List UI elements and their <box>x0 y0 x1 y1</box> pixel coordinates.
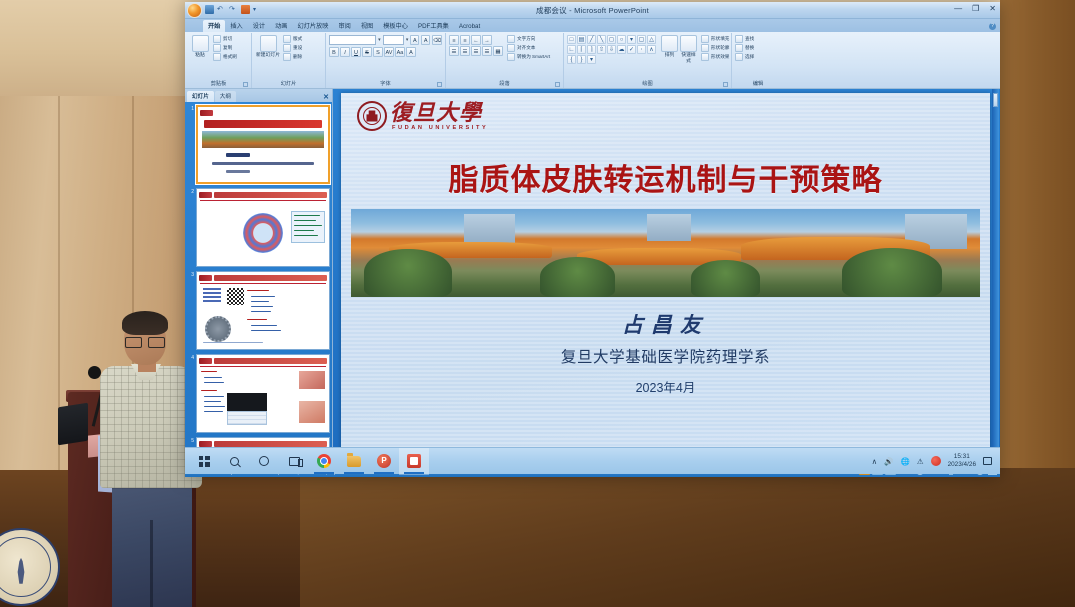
text-direction-icon <box>507 35 515 43</box>
convert-smartart-button[interactable]: 转换为 SmartArt <box>507 53 550 61</box>
speaker-glasses <box>125 337 165 346</box>
thumb-text-panel <box>291 211 325 243</box>
tab-pdf-tools[interactable]: PDF工具集 <box>413 20 454 32</box>
list-item[interactable]: 1 <box>187 105 330 184</box>
shape-arrow-icon[interactable]: ╲ <box>597 35 606 44</box>
network-icon[interactable]: 🌐 <box>900 457 909 466</box>
replace-button[interactable]: 替换 <box>735 44 754 52</box>
thumbnail-slide-4[interactable] <box>196 354 330 433</box>
font-color-button[interactable]: A <box>406 47 416 57</box>
ribbon-group-slides: 新建幻灯片 版式 重设 删除 <box>252 33 326 88</box>
thumb-title-bar <box>214 275 327 281</box>
thumb-text-line <box>204 377 222 378</box>
shape-brace2-icon[interactable]: } <box>577 55 586 64</box>
slide-speaker-name: 占昌友 <box>341 309 990 339</box>
thumb-text-line <box>204 401 221 402</box>
cortana-circle-icon <box>259 456 269 466</box>
reset-button[interactable]: 重设 <box>283 44 302 52</box>
group-label-slides: 幻灯片 <box>255 80 322 88</box>
ribbon-tabs: 开始 插入 设计 动画 幻灯片放映 审阅 视图 模板中心 PDF工具集 Acro… <box>185 19 1000 32</box>
thumb-dept-line <box>212 162 314 165</box>
thumb-heading-line <box>247 319 267 320</box>
tree <box>540 257 615 297</box>
cut-button[interactable]: 剪切 <box>213 35 237 43</box>
clock[interactable]: 15:31 2023/4/26 <box>948 453 976 469</box>
shape-arrow2-icon[interactable]: ⇧ <box>597 45 606 54</box>
thumb-grid-image <box>227 288 244 305</box>
tab-review[interactable]: 审阅 <box>333 20 355 32</box>
shape-square-icon[interactable]: ◻ <box>607 35 616 44</box>
thumb-heading-line <box>201 371 217 372</box>
thumb-rule <box>200 200 326 201</box>
chevron-up-icon[interactable]: ∧ <box>872 457 878 466</box>
laptop <box>58 403 88 446</box>
fudan-name-cn: 復旦大學 <box>390 101 488 124</box>
microphone-head <box>88 366 101 379</box>
file-explorer-button[interactable] <box>339 448 369 475</box>
fudan-name-en: FUDAN UNIVERSITY <box>392 125 488 131</box>
search-icon <box>230 457 239 466</box>
thumb-text-line <box>251 325 277 326</box>
thumb-header <box>199 357 327 364</box>
thumb-text-line <box>204 382 224 383</box>
thumb-logo-icon <box>199 275 212 281</box>
thumb-number: 4 <box>187 354 194 361</box>
thumb-text-line <box>294 220 316 221</box>
shape-gallery[interactable]: □ ▤ ╱ ╲ ◻ ○ ▾ ▢ △ ∟ ⌈ ⌉ ⇧ ⇩ ☁ <box>567 35 656 64</box>
thumb-text-line <box>204 411 223 412</box>
shield-icon[interactable]: ⚠ <box>917 457 924 466</box>
thumb-heading-line <box>201 390 217 391</box>
shape-outline-button[interactable]: 形状轮廓 <box>701 44 729 52</box>
justify-button[interactable]: ☰ <box>482 46 492 56</box>
change-case-button[interactable]: Aa <box>395 47 405 57</box>
thumb-rule <box>200 366 326 367</box>
panel-tab-outline[interactable]: 大纲 <box>215 91 236 102</box>
group-label-editing: 编辑 <box>735 80 781 88</box>
shape-fill-button[interactable]: 形状填充 <box>701 35 729 43</box>
volume-icon[interactable]: 🔊 <box>884 457 893 466</box>
cortana-button[interactable] <box>249 448 279 475</box>
panel-tab-slides[interactable]: 幻灯片 <box>187 91 214 102</box>
dialog-launcher-icon[interactable] <box>723 82 728 87</box>
thumb-number: 3 <box>187 271 194 278</box>
panel-close-icon[interactable]: ✕ <box>323 93 329 101</box>
slide-thumbnail-panel: 幻灯片 大纲 ✕ 1 <box>185 89 333 464</box>
thumb-logo-icon <box>199 358 212 364</box>
layout-icon <box>283 35 291 43</box>
thumb-skin-image <box>299 371 325 389</box>
dialog-launcher-icon[interactable] <box>243 82 248 87</box>
copy-button[interactable]: 复制 <box>213 44 237 52</box>
task-view-button[interactable] <box>279 448 309 475</box>
thumb-text-line <box>251 306 273 307</box>
find-icon <box>735 35 743 43</box>
campus-panorama-image <box>351 209 980 297</box>
format-painter-icon <box>213 53 221 61</box>
thumb-skin-image-2 <box>299 401 325 423</box>
select-button[interactable]: 选择 <box>735 53 754 61</box>
ribbon-body: 粘贴 剪切 复制 格式刷 <box>185 32 1000 89</box>
strikethrough-button[interactable]: S <box>362 47 372 57</box>
clock-time: 15:31 <box>948 453 976 461</box>
slide-title: 脂质体皮肤转运机制与干预策略 <box>341 155 990 199</box>
arrange-button[interactable]: 排列 <box>661 35 678 59</box>
building <box>464 214 514 244</box>
vertical-scrollbar[interactable] <box>992 89 999 464</box>
shape-triangle-icon[interactable]: △ <box>647 35 656 44</box>
shape-curve-icon[interactable]: ⌈ <box>577 45 586 54</box>
thumb-logo-icon <box>200 110 213 116</box>
thumb-rule <box>200 283 326 284</box>
building <box>647 214 691 240</box>
shrink-font-button[interactable]: A <box>421 35 430 45</box>
thumb-table <box>227 411 267 425</box>
quick-styles-icon <box>680 35 697 52</box>
ribbon-group-editing: 查找 替换 选择 编辑 <box>732 33 784 88</box>
thumb-text-line <box>251 311 271 312</box>
layout-button[interactable]: 版式 <box>283 35 302 43</box>
decrease-indent-button[interactable]: ← <box>471 35 481 45</box>
tab-acrobat[interactable]: Acrobat <box>454 22 485 32</box>
panel-tabs: 幻灯片 大纲 ✕ <box>185 89 332 102</box>
speaker-torso <box>100 366 196 488</box>
thumb-header <box>199 274 327 281</box>
powerpoint-icon <box>377 454 391 468</box>
fudan-seal-icon <box>357 101 387 131</box>
thumb-header <box>199 191 327 198</box>
group-label-paragraph: 段落 <box>449 80 560 88</box>
chrome-icon <box>317 454 331 468</box>
thumb-text-line <box>204 396 224 397</box>
thumb-text-line <box>251 296 275 297</box>
task-view-icon <box>289 457 300 466</box>
thumb-logo-icon <box>199 192 212 198</box>
thumb-gel-image <box>203 288 221 304</box>
shape-cloud-icon[interactable]: ☁ <box>617 45 626 54</box>
search-button[interactable] <box>219 448 249 475</box>
thumb-header <box>199 440 327 447</box>
emblem-ring <box>0 537 51 597</box>
speaker-leg-seam <box>150 520 153 607</box>
shape-rect-icon[interactable]: □ <box>567 35 576 44</box>
list-item[interactable]: 2 <box>187 188 330 267</box>
thumb-text-line <box>294 235 318 236</box>
clear-format-icon[interactable]: ⌫ <box>432 35 442 45</box>
text-direction-button[interactable]: 文字方向 <box>507 35 550 43</box>
align-text-icon <box>507 44 515 52</box>
find-button[interactable]: 查找 <box>735 35 754 43</box>
slide-department: 复旦大学基础医学院药理学系 <box>341 345 990 367</box>
select-icon <box>735 53 743 61</box>
floor-right <box>300 468 1075 607</box>
maximize-button[interactable]: ❐ <box>972 4 979 13</box>
powerpoint-button[interactable] <box>369 448 399 475</box>
chrome-button[interactable] <box>309 448 339 475</box>
powerpoint-doc-icon <box>407 454 421 468</box>
clock-date: 2023/4/26 <box>948 461 976 469</box>
shape-chevron-icon[interactable]: ∧ <box>647 45 656 54</box>
thumb-text-line <box>251 330 281 331</box>
tab-design[interactable]: 设计 <box>248 20 270 32</box>
notification-icon[interactable] <box>983 457 992 465</box>
thumb-citation-line <box>203 342 263 343</box>
current-slide[interactable]: 復旦大學 FUDAN UNIVERSITY 脂质体皮肤转运机制与干预策略 <box>341 93 990 460</box>
shape-freeform-icon[interactable]: ✓ <box>627 45 636 54</box>
folder-icon <box>347 456 361 467</box>
thumb-number: 2 <box>187 188 194 195</box>
thumb-number: 5 <box>187 437 194 444</box>
font-size-input[interactable] <box>383 35 404 45</box>
group-label-drawing: 绘图 <box>567 80 728 88</box>
arrange-icon <box>661 35 678 52</box>
align-center-button[interactable]: ☰ <box>460 46 470 56</box>
grow-font-button[interactable]: A <box>410 35 419 45</box>
thumb-vesicle-diagram <box>205 316 231 342</box>
character-spacing-button[interactable]: AV <box>384 47 394 57</box>
shape-effects-button[interactable]: 形状效果 <box>701 53 729 61</box>
thumb-text-line <box>204 406 225 407</box>
tree <box>691 260 760 297</box>
help-icon[interactable]: ? <box>989 23 996 30</box>
slide-date: 2023年4月 <box>341 377 990 396</box>
group-label-font: 字体 <box>329 80 442 88</box>
numbering-button[interactable]: ≡ <box>460 35 470 45</box>
tab-animation[interactable]: 动画 <box>270 20 292 32</box>
window-titlebar: ↶ ↷ ▾ 成都会议 - Microsoft PowerPoint — ❐ ✕ <box>185 2 1000 19</box>
align-text-button[interactable]: 对齐文本 <box>507 44 550 52</box>
ribbon-group-drawing: □ ▤ ╱ ╲ ◻ ○ ▾ ▢ △ ∟ ⌈ ⌉ ⇧ ⇩ ☁ <box>564 33 732 88</box>
thumb-gel-panel <box>227 393 267 411</box>
align-right-button[interactable]: ☰ <box>471 46 481 56</box>
thumb-liposome-diagram <box>243 213 283 253</box>
shape-expand-icon[interactable]: ▾ <box>587 55 596 64</box>
thumb-speaker-line <box>226 153 250 157</box>
antivirus-icon[interactable] <box>931 456 941 466</box>
close-button[interactable]: ✕ <box>989 4 996 13</box>
thumb-number: 1 <box>187 105 194 112</box>
chevron-down-icon[interactable]: ▾ <box>406 37 409 43</box>
tab-insert[interactable]: 插入 <box>225 20 247 32</box>
shape-rounded-icon[interactable]: ▢ <box>637 35 646 44</box>
group-label-clipboard: 剪贴板 <box>189 80 248 88</box>
thumb-title-bar <box>214 358 327 364</box>
shape-more-icon[interactable]: ▾ <box>627 35 636 44</box>
delete-icon <box>283 53 291 61</box>
thumbnail-slide-1[interactable] <box>196 105 330 184</box>
replace-icon <box>735 44 743 52</box>
quick-styles-button[interactable]: 快速样式 <box>680 35 697 65</box>
new-slide-icon <box>260 35 277 52</box>
thumb-date-line <box>226 170 250 173</box>
window-title: 成都会议 - Microsoft PowerPoint <box>185 5 1000 16</box>
thumb-logo-icon <box>199 441 212 447</box>
window-controls: — ❐ ✕ <box>954 4 996 13</box>
shape-line-icon[interactable]: ╱ <box>587 35 596 44</box>
underline-button[interactable]: U <box>351 47 361 57</box>
thumb-title-bar <box>214 192 327 198</box>
thumb-title-bar <box>214 441 327 447</box>
shape-arrow3-icon[interactable]: ⇩ <box>607 45 616 54</box>
thumbnail-slide-2[interactable] <box>196 188 330 267</box>
new-slide-button[interactable]: 新建幻灯片 <box>255 35 281 59</box>
paste-button[interactable]: 粘贴 <box>189 35 211 59</box>
bold-button[interactable]: B <box>329 47 339 57</box>
shape-bent-icon[interactable]: ⌉ <box>587 45 596 54</box>
ribbon-group-paragraph: ≡ ≡ ← → ☰ ☰ ☰ ☰ ▦ <box>446 33 564 88</box>
tab-home[interactable]: 开始 <box>203 20 225 32</box>
chevron-down-icon[interactable]: ▾ <box>378 37 381 43</box>
tab-slideshow[interactable]: 幻灯片放映 <box>293 20 334 32</box>
thumbnail-list[interactable]: 1 2 <box>185 102 332 464</box>
tab-template-center[interactable]: 模板中心 <box>378 20 413 32</box>
powerpoint-window: ↶ ↷ ▾ 成都会议 - Microsoft PowerPoint — ❐ ✕ … <box>185 2 1000 477</box>
thumb-text-line <box>294 215 320 216</box>
align-left-button[interactable]: ☰ <box>449 46 459 56</box>
delete-slide-button[interactable]: 删除 <box>283 53 302 61</box>
fudan-logo: 復旦大學 FUDAN UNIVERSITY <box>357 101 488 131</box>
bullets-button[interactable]: ≡ <box>449 35 459 45</box>
paste-label: 粘贴 <box>195 53 205 59</box>
speaker-hair <box>122 311 168 335</box>
cut-icon <box>213 35 221 43</box>
thumb-text-line <box>294 225 322 226</box>
shadow-button[interactable]: S <box>373 47 383 57</box>
reset-icon <box>283 44 291 52</box>
powerpoint-window-button[interactable] <box>399 448 429 475</box>
paste-icon <box>192 35 209 52</box>
dialog-launcher-icon[interactable] <box>437 82 442 87</box>
shape-oval-icon[interactable]: ○ <box>617 35 626 44</box>
shape-outline-icon <box>701 44 709 52</box>
list-item[interactable]: 4 <box>187 354 330 433</box>
slide-canvas-area[interactable]: 復旦大學 FUDAN UNIVERSITY 脂质体皮肤转运机制与干预策略 <box>333 89 1000 464</box>
columns-button[interactable]: ▦ <box>493 46 503 56</box>
shape-effects-icon <box>701 53 709 61</box>
start-button[interactable] <box>189 448 219 475</box>
list-item[interactable]: 3 <box>187 271 330 350</box>
tree <box>842 248 943 297</box>
italic-button[interactable]: I <box>340 47 350 57</box>
thumb-text-line <box>294 230 314 231</box>
windows-taskbar: ∧ 🔊 🌐 ⚠ 15:31 2023/4/26 <box>185 447 1000 474</box>
ribbon-group-font: ▾ ▾ A A ⌫ B I U S S AV Aa <box>326 33 446 88</box>
increase-indent-button[interactable]: → <box>482 35 492 45</box>
thumb-title-bar <box>204 120 322 128</box>
dialog-launcher-icon[interactable] <box>555 82 560 87</box>
thumb-header <box>200 109 326 116</box>
tab-view[interactable]: 视图 <box>356 20 378 32</box>
shape-arc-icon[interactable]: ⋅ <box>637 45 646 54</box>
projection-screen: ↶ ↷ ▾ 成都会议 - Microsoft PowerPoint — ❐ ✕ … <box>185 2 1000 477</box>
system-tray: ∧ 🔊 🌐 ⚠ 15:31 2023/4/26 <box>872 453 996 469</box>
windows-logo-icon <box>199 456 210 467</box>
work-area: 幻灯片 大纲 ✕ 1 <box>185 89 1000 464</box>
copy-icon <box>213 44 221 52</box>
shape-elbow-icon[interactable]: ∟ <box>567 45 576 54</box>
ribbon-group-clipboard: 粘贴 剪切 复制 格式刷 <box>186 33 252 88</box>
thumb-campus-image <box>202 131 324 148</box>
thumb-text-line <box>251 301 269 302</box>
shape-textbox-icon[interactable]: ▤ <box>577 35 586 44</box>
tree <box>364 249 452 297</box>
shape-fill-icon <box>701 35 709 43</box>
shape-brace-icon[interactable]: { <box>567 55 576 64</box>
thumbnail-slide-3[interactable] <box>196 271 330 350</box>
thumb-heading-line <box>247 290 269 291</box>
font-name-input[interactable] <box>329 35 376 45</box>
smartart-icon <box>507 53 515 61</box>
scrollbar-thumb[interactable] <box>993 93 998 107</box>
minimize-button[interactable]: — <box>954 4 962 13</box>
format-painter-button[interactable]: 格式刷 <box>213 53 237 61</box>
